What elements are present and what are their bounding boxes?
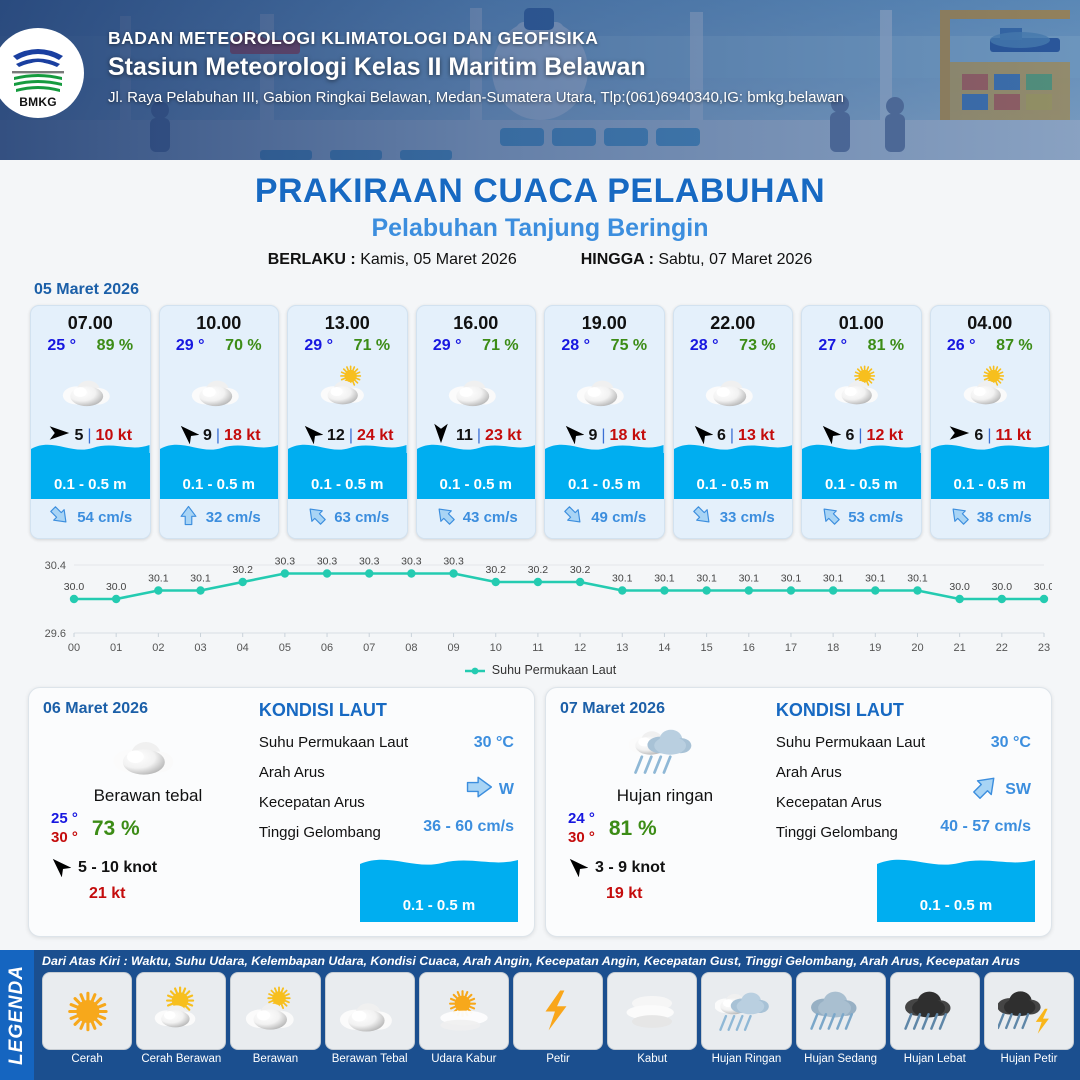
legend-side-banner: LEGENDA: [0, 950, 34, 1080]
daily-wave-value: 0.1 - 0.5 m: [877, 897, 1035, 914]
page-title: PRAKIRAAN CUACA PELABUHAN: [0, 172, 1080, 211]
svg-text:14: 14: [658, 642, 670, 654]
daily-wave-band: 0.1 - 0.5 m: [360, 870, 518, 922]
valid-from: BERLAKU : Kamis, 05 Maret 2026: [268, 251, 517, 269]
wave-shape-icon: [160, 440, 279, 456]
daily-humidity: 73 %: [92, 817, 140, 841]
wave-shape-icon: [288, 440, 407, 456]
current-speed: 38 cm/s: [977, 509, 1032, 526]
current-direction-value: SW: [970, 772, 1031, 807]
forecast-card: 10.00 29 ° 70 % 9 | 18 kt: [159, 305, 280, 539]
valid-from-label: BERLAKU :: [268, 251, 356, 268]
current-direction-icon: [562, 504, 585, 531]
svg-text:30.2: 30.2: [528, 564, 549, 576]
legend-item: Cerah: [42, 972, 132, 1065]
svg-text:30.3: 30.3: [275, 556, 296, 568]
card-time: 04.00: [931, 306, 1050, 336]
wave-height-band: 0.1 - 0.5 m: [802, 453, 921, 499]
wave-shape-icon: [360, 855, 518, 873]
weather-icon-berawan-tebal: [43, 720, 253, 782]
card-temperature: 29 °: [433, 337, 462, 355]
daily-wave-band: 0.1 - 0.5 m: [877, 870, 1035, 922]
title-block: PRAKIRAAN CUACA PELABUHAN Pelabuhan Tanj…: [0, 160, 1080, 269]
legend-side-title: LEGENDA: [6, 965, 28, 1065]
daily-wind-gust: 19 kt: [560, 885, 770, 903]
daily-wind-direction-icon: [49, 855, 71, 882]
svg-text:30.4: 30.4: [45, 560, 66, 572]
svg-text:21: 21: [954, 642, 966, 654]
wave-height-value: 0.1 - 0.5 m: [31, 476, 150, 493]
legend-icon-cerah: [42, 972, 132, 1050]
wave-height-band: 0.1 - 0.5 m: [674, 453, 793, 499]
daily-temp-max: 30 °: [51, 829, 78, 848]
current-speed: 43 cm/s: [463, 509, 518, 526]
legend-item-label: Berawan Tebal: [325, 1053, 415, 1065]
card-time: 01.00: [802, 306, 921, 336]
card-time: 07.00: [31, 306, 150, 336]
svg-text:30.0: 30.0: [992, 581, 1013, 593]
svg-text:03: 03: [194, 642, 206, 654]
valid-until-value: Sabtu, 07 Maret 2026: [658, 251, 812, 268]
sea-surface-temp-value: 30 °C: [991, 734, 1031, 752]
card-humidity: 70 %: [225, 337, 261, 355]
weather-icon-berawan-tebal: [160, 357, 279, 419]
legend-icon-list: Cerah Cerah Berawan: [42, 972, 1074, 1065]
weather-icon-berawan-tebal: [417, 357, 536, 419]
svg-text:11: 11: [532, 642, 543, 654]
svg-text:30.3: 30.3: [359, 556, 380, 568]
svg-text:22: 22: [996, 642, 1008, 654]
weather-icon-berawan-tebal: [31, 357, 150, 419]
svg-text:09: 09: [447, 642, 459, 654]
validity-row: BERLAKU : Kamis, 05 Maret 2026 HINGGA : …: [0, 251, 1080, 269]
valid-until: HINGGA : Sabtu, 07 Maret 2026: [581, 251, 813, 269]
daily-condition: Hujan ringan: [560, 786, 770, 806]
svg-text:10: 10: [490, 642, 502, 654]
wave-shape-icon: [31, 440, 150, 456]
legend-item-label: Hujan Petir: [984, 1053, 1074, 1065]
current-speed: 63 cm/s: [334, 509, 389, 526]
legend-icon-kabut: [607, 972, 697, 1050]
legend-item: Kabut: [607, 972, 697, 1065]
current-direction-icon: [305, 504, 328, 531]
current-direction-icon: [434, 504, 457, 531]
svg-text:30.3: 30.3: [401, 556, 422, 568]
valid-until-label: HINGGA :: [581, 251, 654, 268]
card-humidity: 89 %: [97, 337, 133, 355]
current-speed-value: 40 - 57 cm/s: [940, 818, 1031, 836]
wave-shape-icon: [802, 440, 921, 456]
wave-shape-icon: [877, 855, 1035, 873]
legend-icon-hujan-ringan: [701, 972, 791, 1050]
svg-text:29.6: 29.6: [45, 628, 66, 640]
legend-item: Berawan Tebal: [325, 972, 415, 1065]
card-humidity: 75 %: [611, 337, 647, 355]
svg-text:30.1: 30.1: [148, 573, 169, 585]
wave-height-band: 0.1 - 0.5 m: [31, 453, 150, 499]
legend-note: Dari Atas Kiri : Waktu, Suhu Udara, Kele…: [42, 954, 1074, 968]
svg-text:30.1: 30.1: [654, 573, 675, 585]
svg-text:01: 01: [110, 642, 122, 654]
svg-text:30.2: 30.2: [232, 564, 253, 576]
current-direction-icon: [819, 504, 842, 531]
daily-wind-direction-icon: [566, 855, 588, 882]
svg-text:30.0: 30.0: [64, 581, 85, 593]
daily-summary-panel: 06 Maret 2026 Berawan tebal 25 ° 30 ° 73: [28, 687, 535, 937]
svg-text:12: 12: [574, 642, 586, 654]
page-header: BMKG BADAN METEOROLOGI KLIMATOLOGI DAN G…: [0, 0, 1080, 160]
card-humidity: 73 %: [739, 337, 775, 355]
card-humidity: 87 %: [996, 337, 1032, 355]
svg-text:13: 13: [616, 642, 628, 654]
card-temperature: 27 °: [818, 337, 847, 355]
forecast-card: 19.00 28 ° 75 % 9 | 18 kt: [544, 305, 665, 539]
wave-height-band: 0.1 - 0.5 m: [288, 453, 407, 499]
card-time: 22.00: [674, 306, 793, 336]
svg-text:30.1: 30.1: [190, 573, 211, 585]
wave-height-value: 0.1 - 0.5 m: [674, 476, 793, 493]
weather-icon-berawan: [288, 357, 407, 419]
daily-condition: Berawan tebal: [43, 786, 253, 806]
legend-icon-cerah-berawan: [136, 972, 226, 1050]
svg-text:30.1: 30.1: [739, 573, 760, 585]
legend-icon-hujan-sedang: [796, 972, 886, 1050]
daily-temp-min: 24 °: [568, 810, 595, 829]
card-time: 10.00: [160, 306, 279, 336]
legend-icon-berawan: [230, 972, 320, 1050]
svg-text:30.1: 30.1: [781, 573, 802, 585]
svg-text:17: 17: [785, 642, 797, 654]
svg-text:30.1: 30.1: [696, 573, 717, 585]
legend-icon-udara-kabur: [419, 972, 509, 1050]
daily-date: 06 Maret 2026: [43, 700, 253, 718]
svg-text:02: 02: [152, 642, 164, 654]
current-speed: 54 cm/s: [77, 509, 132, 526]
legend-footer: LEGENDA Dari Atas Kiri : Waktu, Suhu Uda…: [0, 950, 1080, 1080]
svg-text:19: 19: [869, 642, 881, 654]
svg-text:30.3: 30.3: [317, 556, 338, 568]
card-humidity: 71 %: [482, 337, 518, 355]
wave-shape-icon: [417, 440, 536, 456]
forecast-card: 07.00 25 ° 89 % 5 | 10 kt: [30, 305, 151, 539]
card-temperature: 28 °: [561, 337, 590, 355]
card-temperature: 26 °: [947, 337, 976, 355]
legend-item-label: Petir: [513, 1053, 603, 1065]
legend-icon-hujan-lebat: [890, 972, 980, 1050]
current-direction-label: W: [499, 781, 514, 799]
wave-shape-icon: [674, 440, 793, 456]
legend-item-label: Udara Kabur: [419, 1053, 509, 1065]
svg-text:00: 00: [68, 642, 80, 654]
daily-wind-speed: 3 - 9 knot: [595, 859, 665, 877]
svg-text:30.2: 30.2: [486, 564, 507, 576]
svg-text:06: 06: [321, 642, 333, 654]
station-name: Stasiun Meteorologi Kelas II Maritim Bel…: [108, 53, 844, 82]
legend-item-label: Hujan Lebat: [890, 1053, 980, 1065]
org-name: BADAN METEOROLOGI KLIMATOLOGI DAN GEOFIS…: [108, 28, 844, 49]
current-direction-icon: [691, 504, 714, 531]
sea-condition-title: KONDISI LAUT: [776, 700, 1037, 721]
wave-height-band: 0.1 - 0.5 m: [545, 453, 664, 499]
valid-from-value: Kamis, 05 Maret 2026: [360, 251, 517, 268]
legend-item-label: Berawan: [230, 1053, 320, 1065]
wave-height-value: 0.1 - 0.5 m: [417, 476, 536, 493]
card-temperature: 29 °: [304, 337, 333, 355]
forecast-card: 16.00 29 ° 71 % 11 | 23 kt: [416, 305, 537, 539]
wave-height-value: 0.1 - 0.5 m: [288, 476, 407, 493]
legend-icon-petir: [513, 972, 603, 1050]
weather-icon-berawan-tebal: [674, 357, 793, 419]
wave-height-value: 0.1 - 0.5 m: [931, 476, 1050, 493]
legend-item: Hujan Sedang: [796, 972, 886, 1065]
current-direction-value: W: [464, 772, 514, 807]
card-temperature: 28 °: [690, 337, 719, 355]
legend-item-label: Kabut: [607, 1053, 697, 1065]
legend-item-label: Hujan Ringan: [701, 1053, 791, 1065]
current-direction-icon: [948, 504, 971, 531]
legend-item: Hujan Lebat: [890, 972, 980, 1065]
card-temperature: 25 °: [47, 337, 76, 355]
legend-marker-icon: [464, 665, 486, 675]
card-time: 16.00: [417, 306, 536, 336]
card-time: 19.00: [545, 306, 664, 336]
wave-height-value: 0.1 - 0.5 m: [160, 476, 279, 493]
current-speed: 53 cm/s: [848, 509, 903, 526]
weather-icon-berawan: [802, 357, 921, 419]
legend-label: Suhu Permukaan Laut: [492, 663, 616, 677]
forecast-card: 22.00 28 ° 73 % 6 | 13 kt: [673, 305, 794, 539]
wave-height-band: 0.1 - 0.5 m: [931, 453, 1050, 499]
current-speed: 33 cm/s: [720, 509, 775, 526]
chart-legend: Suhu Permukaan Laut: [0, 663, 1080, 677]
svg-text:30.1: 30.1: [823, 573, 844, 585]
forecast-card-list: 07.00 25 ° 89 % 5 | 10 kt: [0, 305, 1080, 539]
svg-text:20: 20: [911, 642, 923, 654]
wave-height-value: 0.1 - 0.5 m: [545, 476, 664, 493]
svg-text:30.1: 30.1: [612, 573, 633, 585]
current-direction-icon: [970, 772, 1000, 807]
daily-temp-min: 25 °: [51, 810, 78, 829]
svg-text:04: 04: [237, 642, 249, 654]
svg-text:05: 05: [279, 642, 291, 654]
legend-icon-hujan-petir: [984, 972, 1074, 1050]
daily-temp-max: 30 °: [568, 829, 595, 848]
wave-height-value: 0.1 - 0.5 m: [802, 476, 921, 493]
weather-icon-hujan-ringan: [560, 720, 770, 782]
daily-wave-value: 0.1 - 0.5 m: [360, 897, 518, 914]
current-direction-label: SW: [1005, 781, 1031, 799]
sst-chart: 30.429.600010203040506070809101112131415…: [28, 551, 1052, 659]
forecast-date: 05 Maret 2026: [34, 281, 1080, 299]
legend-item: Hujan Petir: [984, 972, 1074, 1065]
legend-icon-berawan-tebal: [325, 972, 415, 1050]
svg-text:30.0: 30.0: [1034, 581, 1052, 593]
legend-item-label: Cerah: [42, 1053, 132, 1065]
svg-text:30.0: 30.0: [106, 581, 127, 593]
card-time: 13.00: [288, 306, 407, 336]
svg-text:30.1: 30.1: [907, 573, 928, 585]
current-speed-value: 36 - 60 cm/s: [423, 818, 514, 836]
daily-summary-panel: 07 Maret 2026 Hujan ringan 24 °: [545, 687, 1052, 937]
bmkg-logo-text: BMKG: [7, 95, 69, 109]
weather-icon-berawan: [931, 357, 1050, 419]
wave-shape-icon: [931, 440, 1050, 456]
svg-text:30.2: 30.2: [570, 564, 591, 576]
daily-humidity: 81 %: [609, 817, 657, 841]
legend-item-label: Hujan Sedang: [796, 1053, 886, 1065]
card-humidity: 81 %: [868, 337, 904, 355]
svg-text:30.0: 30.0: [949, 581, 970, 593]
legend-item: Petir: [513, 972, 603, 1065]
daily-summary-list: 06 Maret 2026 Berawan tebal 25 ° 30 ° 73: [0, 677, 1080, 937]
wave-height-band: 0.1 - 0.5 m: [160, 453, 279, 499]
daily-wind-speed: 5 - 10 knot: [78, 859, 157, 877]
svg-text:15: 15: [700, 642, 712, 654]
current-speed: 49 cm/s: [591, 509, 646, 526]
station-address: Jl. Raya Pelabuhan III, Gabion Ringkai B…: [108, 89, 844, 106]
current-direction-icon: [48, 504, 71, 531]
wave-height-band: 0.1 - 0.5 m: [417, 453, 536, 499]
forecast-card: 13.00 29 ° 71 % 12 | 24 kt: [287, 305, 408, 539]
svg-text:16: 16: [743, 642, 755, 654]
legend-item: Udara Kabur: [419, 972, 509, 1065]
legend-item: Berawan: [230, 972, 320, 1065]
svg-text:18: 18: [827, 642, 839, 654]
legend-item: Hujan Ringan: [701, 972, 791, 1065]
daily-date: 07 Maret 2026: [560, 700, 770, 718]
current-direction-icon: [177, 504, 200, 531]
daily-wind-gust: 21 kt: [43, 885, 253, 903]
current-speed: 32 cm/s: [206, 509, 261, 526]
svg-text:23: 23: [1038, 642, 1050, 654]
forecast-card: 04.00 26 ° 87 % 6 | 11 kt: [930, 305, 1051, 539]
wave-shape-icon: [545, 440, 664, 456]
sea-condition-title: KONDISI LAUT: [259, 700, 520, 721]
card-humidity: 71 %: [354, 337, 390, 355]
svg-text:30.3: 30.3: [443, 556, 464, 568]
legend-item: Cerah Berawan: [136, 972, 226, 1065]
svg-text:07: 07: [363, 642, 375, 654]
svg-text:08: 08: [405, 642, 417, 654]
page-subtitle: Pelabuhan Tanjung Beringin: [0, 214, 1080, 243]
svg-text:30.1: 30.1: [865, 573, 886, 585]
current-direction-icon: [464, 772, 494, 807]
forecast-card: 01.00 27 ° 81 % 6 | 12 kt: [801, 305, 922, 539]
sea-surface-temp-value: 30 °C: [474, 734, 514, 752]
card-temperature: 29 °: [176, 337, 205, 355]
weather-icon-berawan-tebal: [545, 357, 664, 419]
legend-item-label: Cerah Berawan: [136, 1053, 226, 1065]
